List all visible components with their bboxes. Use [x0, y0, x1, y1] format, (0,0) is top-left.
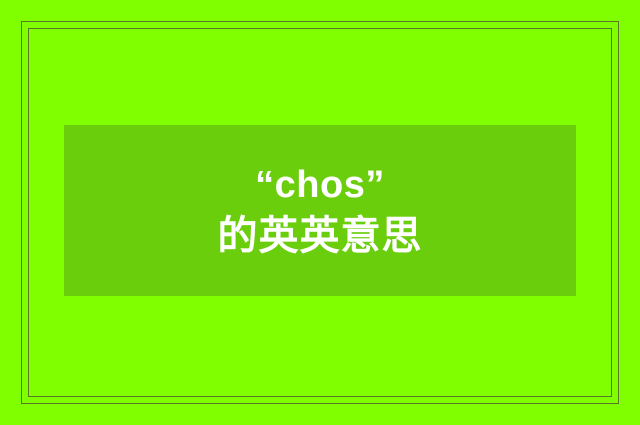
poster-canvas: “chos” 的英英意思: [0, 0, 640, 425]
heading-line-secondary: 的英英意思: [218, 216, 423, 256]
title-panel: “chos” 的英英意思: [64, 125, 576, 296]
heading-line-primary: “chos”: [255, 166, 385, 204]
